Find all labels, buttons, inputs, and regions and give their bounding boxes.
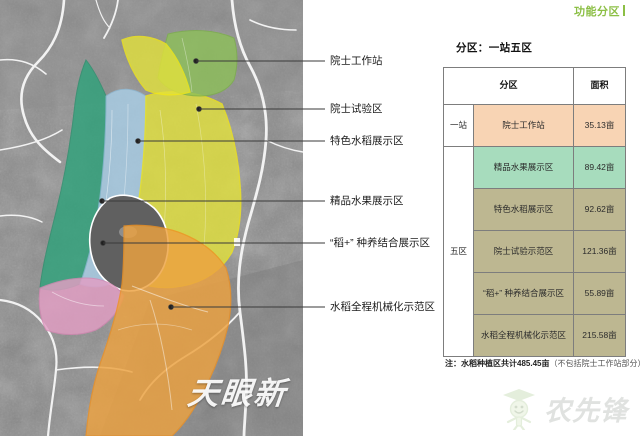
mascot-icon bbox=[499, 386, 539, 430]
table-note-main: 注：水稻种植区共计485.45亩 bbox=[445, 359, 549, 368]
callout-label-special-rice: 特色水稻展示区 bbox=[330, 136, 404, 147]
header-zone: 分区 bbox=[444, 68, 574, 105]
page-root: 功能分区 bbox=[0, 0, 640, 436]
table-row[interactable]: 五区 精品水果展示区 89.42亩 bbox=[444, 147, 626, 189]
table-note-paren: （不包括院士工作站部分） bbox=[549, 359, 640, 368]
row-area: 89.42亩 bbox=[574, 147, 626, 189]
row-name: 院士工作站 bbox=[474, 105, 574, 147]
row-name: 特色水稻展示区 bbox=[474, 189, 574, 231]
row-area: 121.36亩 bbox=[574, 231, 626, 273]
page-title-text: 功能分区 bbox=[574, 6, 620, 18]
header-area: 面积 bbox=[574, 68, 626, 105]
callout-label-fruit: 精品水果展示区 bbox=[330, 196, 404, 207]
row-area: 55.89亩 bbox=[574, 273, 626, 315]
table-title: 分区：一站五区 bbox=[456, 40, 532, 55]
callout-label-trial-zone: 院士试验区 bbox=[330, 104, 383, 115]
row-name: 精品水果展示区 bbox=[474, 147, 574, 189]
callout-label-mechanized: 水稻全程机械化示范区 bbox=[330, 302, 435, 313]
watermark-brand-text: 农先锋 bbox=[544, 389, 628, 428]
row-area: 35.13亩 bbox=[574, 105, 626, 147]
group-cell-wuqu: 五区 bbox=[444, 147, 474, 357]
table-header-row: 分区 面积 bbox=[444, 68, 626, 105]
row-name: 院士试验示范区 bbox=[474, 231, 574, 273]
callout-leader-lines bbox=[0, 0, 340, 436]
table-row[interactable]: 一站 院士工作站 35.13亩 bbox=[444, 105, 626, 147]
watermark-nongxianfeng: 农先锋 bbox=[499, 386, 628, 430]
row-area: 92.62亩 bbox=[574, 189, 626, 231]
zone-area-table: 分区 面积 一站 院士工作站 35.13亩 五区 精品水果展示区 89.42亩 … bbox=[443, 67, 626, 357]
page-title: 功能分区 bbox=[574, 3, 625, 19]
row-name: 水稻全程机械化示范区 bbox=[474, 315, 574, 357]
table-note: 注：水稻种植区共计485.45亩（不包括院士工作站部分） bbox=[445, 358, 640, 369]
callout-label-workstation: 院士工作站 bbox=[330, 56, 383, 67]
callout-label-rice-plus: “稻+” 种养结合展示区 bbox=[330, 238, 430, 249]
row-name: “稻+” 种养结合展示区 bbox=[474, 273, 574, 315]
row-area: 215.58亩 bbox=[574, 315, 626, 357]
group-cell-yizhan: 一站 bbox=[444, 105, 474, 147]
title-accent-bar bbox=[623, 5, 625, 16]
